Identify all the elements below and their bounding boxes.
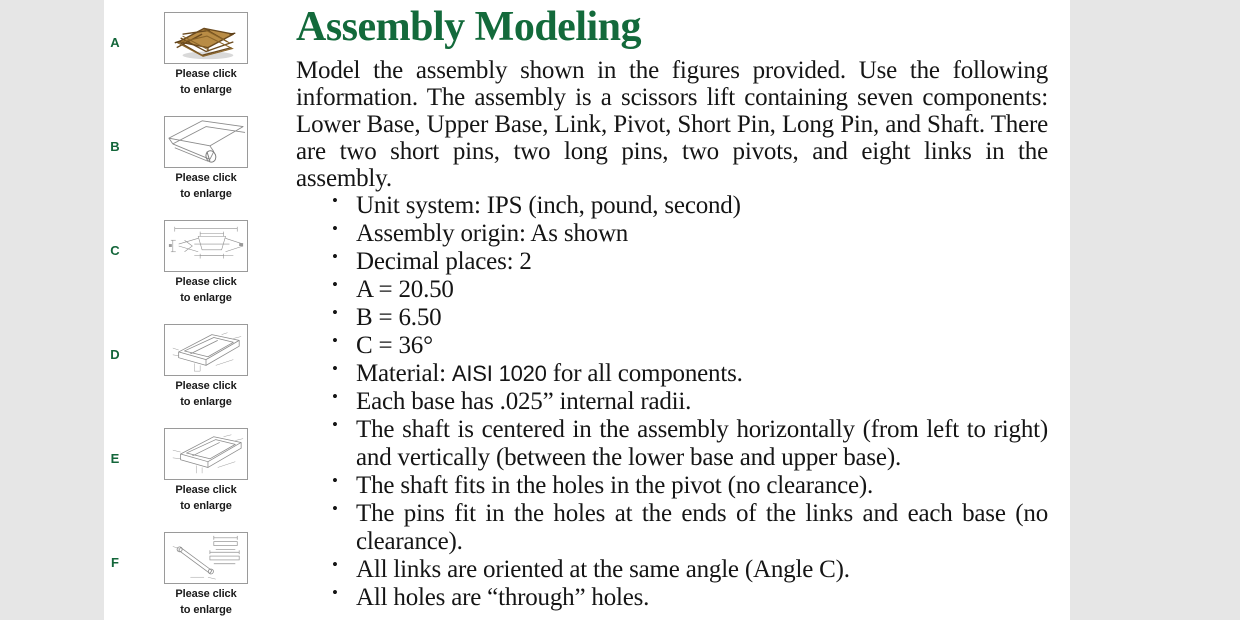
spec-material-value: AISI 1020 [452, 361, 547, 386]
spec-list-item: Each base has .025” internal radii. [328, 388, 1048, 416]
figure-block-b[interactable]: B [104, 116, 286, 210]
figure-letter-b: B [104, 116, 126, 153]
figure-block-a[interactable]: A [104, 12, 286, 106]
enlarge-caption-line2: to enlarge [180, 188, 232, 200]
enlarge-caption-b[interactable]: Please click to enlarge [126, 171, 286, 203]
spec-list-item: The shaft fits in the holes in the pivot… [328, 472, 1048, 500]
spec-list-item: B = 6.50 [328, 304, 1048, 332]
page-title: Assembly Modeling [296, 4, 1048, 51]
enlarge-caption-a[interactable]: Please click to enlarge [126, 67, 286, 99]
scissors-lift-isometric-thumbnail[interactable] [164, 12, 248, 64]
enlarge-caption-c[interactable]: Please click to enlarge [126, 275, 286, 307]
assembly-front-dimensioned-thumbnail[interactable] [164, 220, 248, 272]
spec-list-item: Material: AISI 1020 for all components. [328, 360, 1048, 388]
figure-letter-a: A [104, 12, 126, 49]
figure-letter-e: E [104, 428, 126, 465]
figure-letter-c: C [104, 220, 126, 257]
spec-text: Material: [356, 360, 452, 387]
spec-list-item: All holes are “through” holes. [328, 584, 1048, 612]
figure-block-e[interactable]: E [104, 428, 286, 522]
specification-list: Unit system: IPS (inch, pound, second)As… [296, 192, 1048, 612]
document-page: A [104, 0, 1070, 620]
enlarge-caption-line2: to enlarge [180, 604, 232, 616]
spec-list-item: All links are oriented at the same angle… [328, 556, 1048, 584]
lower-base-dimensioned-thumbnail[interactable] [164, 324, 248, 376]
upper-base-dimensioned-thumbnail[interactable] [164, 428, 248, 480]
spec-list-item: The pins fit in the holes at the ends of… [328, 500, 1048, 556]
spec-list-item: Decimal places: 2 [328, 248, 1048, 276]
spec-text-after: for all components. [547, 360, 743, 387]
spec-list-item: A = 20.50 [328, 276, 1048, 304]
enlarge-caption-line1: Please click [175, 68, 236, 80]
spec-list-item: C = 36° [328, 332, 1048, 360]
document-content: Assembly Modeling Model the assembly sho… [286, 0, 1070, 612]
base-detail-isometric-thumbnail[interactable] [164, 116, 248, 168]
enlarge-caption-line1: Please click [175, 380, 236, 392]
spec-list-item: The shaft is centered in the assembly ho… [328, 416, 1048, 472]
enlarge-caption-line1: Please click [175, 172, 236, 184]
spec-list-item: Unit system: IPS (inch, pound, second) [328, 192, 1048, 220]
figure-thumbnail-column: A [104, 0, 286, 620]
enlarge-caption-line2: to enlarge [180, 396, 232, 408]
enlarge-caption-line2: to enlarge [180, 500, 232, 512]
figure-block-f[interactable]: F [104, 532, 286, 620]
enlarge-caption-f[interactable]: Please click to enlarge [126, 587, 286, 619]
enlarge-caption-line1: Please click [175, 588, 236, 600]
figure-block-c[interactable]: C [104, 220, 286, 314]
enlarge-caption-line2: to enlarge [180, 84, 232, 96]
enlarge-caption-line1: Please click [175, 484, 236, 496]
link-pin-shaft-dimensioned-thumbnail[interactable] [164, 532, 248, 584]
spec-list-item: Assembly origin: As shown [328, 220, 1048, 248]
intro-paragraph: Model the assembly shown in the figures … [296, 57, 1048, 192]
enlarge-caption-d[interactable]: Please click to enlarge [126, 379, 286, 411]
figure-letter-d: D [104, 324, 126, 361]
figure-block-d[interactable]: D [104, 324, 286, 418]
figure-letter-f: F [104, 532, 126, 569]
enlarge-caption-line2: to enlarge [180, 292, 232, 304]
enlarge-caption-line1: Please click [175, 276, 236, 288]
enlarge-caption-e[interactable]: Please click to enlarge [126, 483, 286, 515]
